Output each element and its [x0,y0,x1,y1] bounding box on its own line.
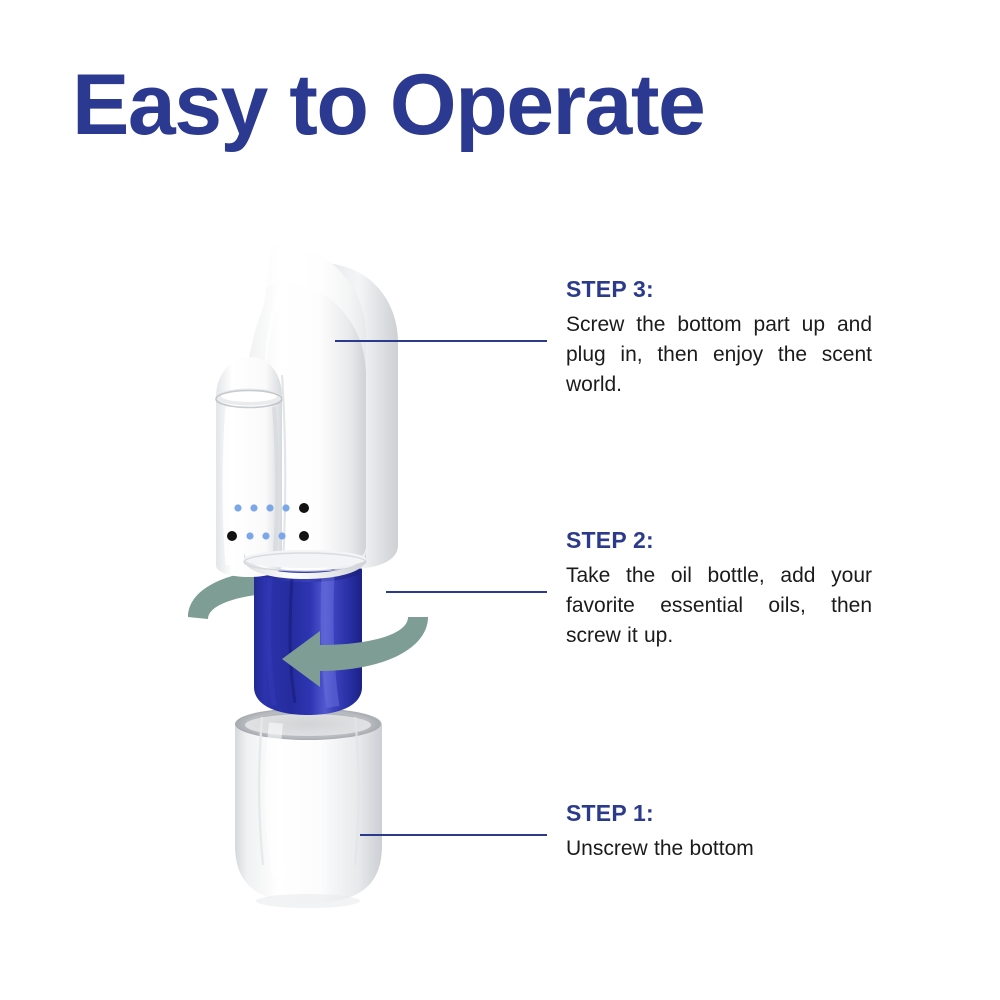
bottom-cap [235,708,382,903]
page-title: Easy to Operate [72,62,704,148]
product-illustration [170,225,460,915]
step-2-heading: STEP 2: [566,527,872,554]
leader-line-step-1 [360,834,547,836]
leader-line-step-2 [386,591,547,593]
step-block-2: STEP 2: Take the oil bottle, add your fa… [566,527,872,650]
nozzle [216,357,282,577]
top-body [216,245,398,579]
step-block-1: STEP 1: Unscrew the bottom [566,800,872,864]
leader-line-step-3 [335,340,547,342]
step-3-heading: STEP 3: [566,276,872,303]
step-1-heading: STEP 1: [566,800,872,827]
step-1-body: Unscrew the bottom [566,834,872,864]
step-block-3: STEP 3: Screw the bottom part up and plu… [566,276,872,399]
oil-bottle [254,558,362,715]
step-2-body: Take the oil bottle, add your favorite e… [566,561,872,650]
step-3-body: Screw the bottom part up and plug in, th… [566,310,872,399]
